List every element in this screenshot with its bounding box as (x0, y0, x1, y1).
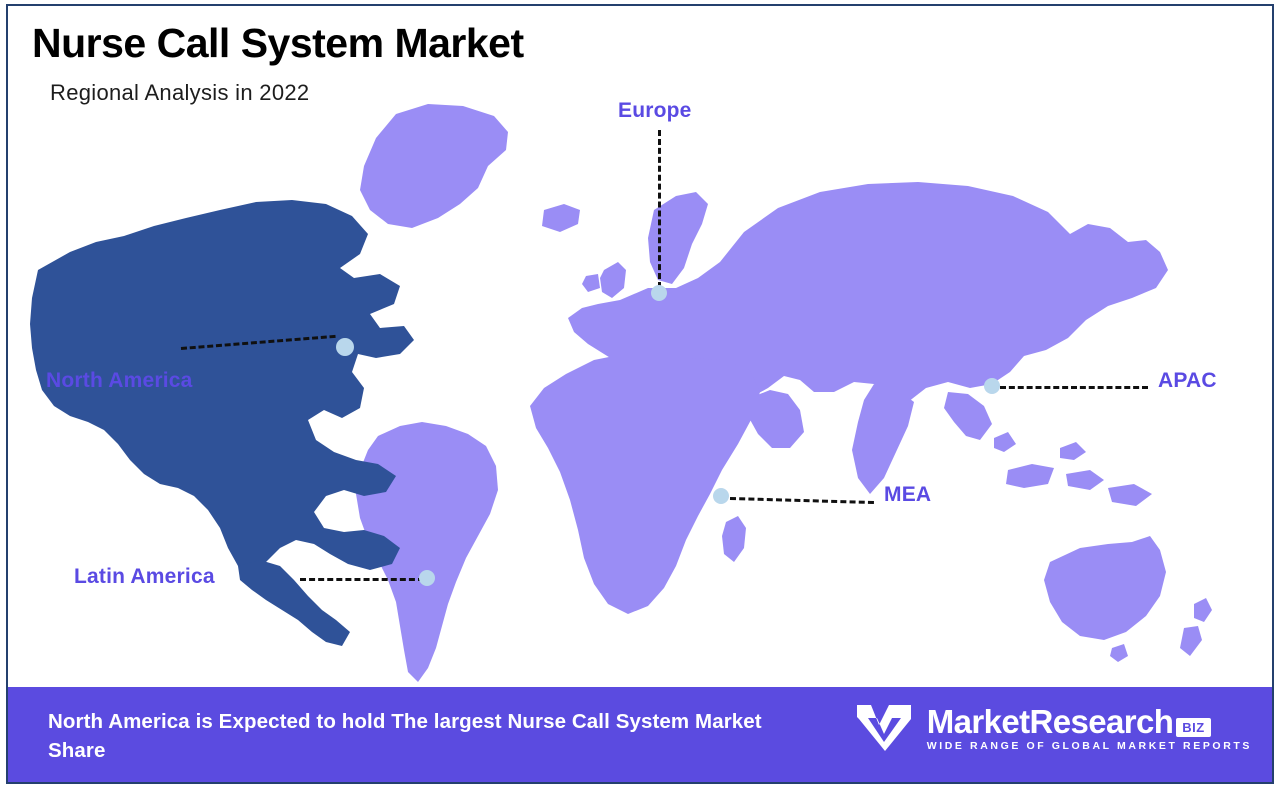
logo-name-row: MarketResearch BIZ (927, 705, 1252, 738)
infographic-page: Nurse Call System Market Regional Analys… (0, 0, 1280, 788)
leader-line-apac (1000, 386, 1148, 389)
footer-banner: North America is Expected to hold The la… (8, 687, 1272, 782)
marketresearch-logo[interactable]: MarketResearch BIZ WIDE RANGE OF GLOBAL … (855, 703, 1252, 753)
checkmark-logo-icon (855, 703, 913, 753)
region-label-north-america: North America (46, 369, 193, 393)
logo-name: MarketResearch (927, 705, 1174, 738)
region-iceland (542, 204, 580, 232)
region-madagascar (722, 516, 746, 562)
region-tasmania (1110, 644, 1128, 662)
page-title: Nurse Call System Market (32, 20, 524, 67)
marker-apac (984, 378, 1000, 394)
logo-text-block: MarketResearch BIZ WIDE RANGE OF GLOBAL … (927, 705, 1252, 752)
marker-north-america (336, 338, 354, 356)
region-label-europe: Europe (618, 99, 692, 123)
world-map (8, 92, 1272, 692)
leader-line-europe (658, 130, 661, 288)
footer-headline: North America is Expected to hold The la… (48, 707, 808, 765)
world-map-svg (8, 92, 1272, 692)
region-label-latin-america: Latin America (74, 565, 215, 589)
region-india (852, 384, 914, 494)
logo-tagline: WIDE RANGE OF GLOBAL MARKET REPORTS (927, 740, 1252, 752)
marker-latin-america (419, 570, 435, 586)
marker-europe (651, 285, 667, 301)
region-new-zealand (1180, 598, 1212, 656)
leader-line-latin-america (300, 578, 424, 581)
region-southeast-asia (944, 392, 992, 440)
region-british-isles (582, 262, 626, 298)
logo-biz-badge: BIZ (1176, 718, 1210, 737)
region-scandinavia (648, 192, 708, 284)
region-africa (530, 354, 760, 614)
region-greenland (360, 104, 508, 228)
region-mexico-central-america (238, 560, 350, 646)
content-frame: Nurse Call System Market Regional Analys… (6, 4, 1274, 784)
region-label-mea: MEA (884, 483, 931, 507)
default-regions (356, 104, 1212, 682)
region-indonesia (994, 432, 1152, 506)
region-australia (1044, 536, 1166, 640)
region-label-apac: APAC (1158, 369, 1217, 393)
marker-mea (713, 488, 729, 504)
